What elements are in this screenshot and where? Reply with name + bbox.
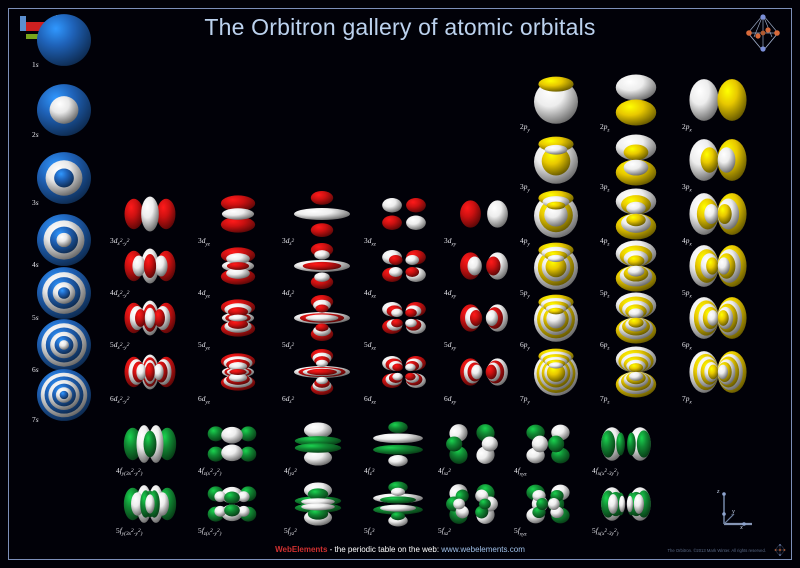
orbital-5fz(x2-y2)[interactable] — [204, 481, 260, 527]
orbital-7py[interactable] — [533, 349, 579, 395]
orbital-label-2py: 2py — [520, 122, 530, 133]
orbital-7s[interactable] — [36, 367, 92, 423]
orbital-label-5dxy: 5dxy — [444, 340, 456, 351]
orbital-3pz[interactable] — [613, 134, 659, 186]
orbital-1s[interactable] — [36, 12, 92, 68]
orbital-label-5fy(3x2-y2): 5fy(3x2-y2) — [116, 526, 142, 537]
orbital-label-7s: 7s — [32, 415, 39, 424]
orbital-4py[interactable] — [533, 191, 579, 237]
orbital-label-6dxz: 6dxz — [364, 394, 376, 405]
orbital-6dx2-y2[interactable] — [123, 352, 177, 392]
footer-url[interactable]: www.webelements.com — [441, 545, 525, 554]
orbital-label-6dz2: 6dz2 — [282, 394, 294, 405]
orbital-4fy(3x2-y2)[interactable] — [122, 421, 178, 467]
orbital-label-4fy(3x2-y2): 4fy(3x2-y2) — [116, 466, 142, 477]
orbital-label-6py: 6py — [520, 340, 530, 351]
orbital-5dxy[interactable] — [457, 298, 511, 338]
orbital-5fx(x2-3y2)[interactable] — [598, 481, 654, 527]
orbital-label-4dxy: 4dxy — [444, 288, 456, 299]
orbital-label-5dyz: 5dyz — [198, 340, 210, 351]
footer-brand[interactable]: WebElements — [275, 545, 327, 554]
axis-label-y: y — [732, 508, 735, 515]
orbital-label-5py: 5py — [520, 288, 530, 299]
orbital-label-5fx(x2-3y2): 5fx(x2-3y2) — [592, 526, 618, 537]
orbital-5fxz2[interactable] — [444, 481, 500, 527]
orbital-6pz[interactable] — [613, 292, 659, 344]
orbital-4dyz[interactable] — [211, 246, 265, 286]
orbital-5px[interactable] — [689, 243, 747, 289]
orbital-4px[interactable] — [689, 191, 747, 237]
orbital-label-3dyz: 3dyz — [198, 236, 210, 247]
orbital-6s[interactable] — [36, 317, 92, 373]
orbital-6dz2[interactable] — [293, 348, 351, 396]
orbital-4fx(x2-3y2)[interactable] — [598, 421, 654, 467]
orbitron-poster: The Orbitron gallery of atomic orbitals … — [0, 0, 800, 568]
orbital-4fxz2[interactable] — [444, 421, 500, 467]
orbital-label-5pz: 5pz — [600, 288, 610, 299]
orbital-5dz2[interactable] — [293, 294, 351, 342]
orbital-3px[interactable] — [689, 137, 747, 183]
orbital-label-5dxz: 5dxz — [364, 340, 376, 351]
orbital-3s[interactable] — [36, 150, 92, 206]
orbital-3dxy[interactable] — [457, 194, 511, 234]
orbital-label-4fyz2: 4fyz2 — [284, 466, 297, 477]
orbital-4fyz2[interactable] — [290, 421, 346, 467]
orbital-5fxyz[interactable] — [520, 481, 576, 527]
axis-label-x: x — [740, 524, 743, 531]
orbital-2pz[interactable] — [613, 74, 659, 126]
orbital-5dx2-y2[interactable] — [123, 298, 177, 338]
orbital-7px[interactable] — [689, 349, 747, 395]
orbital-label-4fz(x2-y2): 4fz(x2-y2) — [198, 466, 221, 477]
orbital-4dz2[interactable] — [293, 242, 351, 290]
orbital-6py[interactable] — [533, 295, 579, 341]
orbital-label-3dxz: 3dxz — [364, 236, 376, 247]
orbital-label-4fxz2: 4fxz2 — [438, 466, 451, 477]
orbitron-mini-icon — [773, 543, 787, 557]
orbital-6dxy[interactable] — [457, 352, 511, 392]
orbital-3dx2-y2[interactable] — [123, 194, 177, 234]
orbital-5dyz[interactable] — [211, 298, 265, 338]
orbital-3dyz[interactable] — [211, 194, 265, 234]
orbital-label-4dyz: 4dyz — [198, 288, 210, 299]
orbital-label-2s: 2s — [32, 130, 39, 139]
orbital-4dxz[interactable] — [377, 246, 431, 286]
orbital-4dx2-y2[interactable] — [123, 246, 177, 286]
orbital-4dxy[interactable] — [457, 246, 511, 286]
orbital-6dyz[interactable] — [211, 352, 265, 392]
orbital-7pz[interactable] — [613, 346, 659, 398]
orbital-label-7px: 7px — [682, 394, 692, 405]
axes-key: z y x — [712, 490, 772, 538]
orbital-label-6pz: 6pz — [600, 340, 610, 351]
page-title: The Orbitron gallery of atomic orbitals — [0, 14, 800, 41]
orbital-label-7py: 7py — [520, 394, 530, 405]
orbital-5dxz[interactable] — [377, 298, 431, 338]
orbital-4s[interactable] — [36, 212, 92, 268]
orbital-label-4py: 4py — [520, 236, 530, 247]
orbital-6dxz[interactable] — [377, 352, 431, 392]
orbital-4pz[interactable] — [613, 188, 659, 240]
footer-text: - the periodic table on the web: — [327, 545, 441, 554]
orbital-label-6dxy: 6dxy — [444, 394, 456, 405]
orbital-label-2pz: 2pz — [600, 122, 610, 133]
orbital-4fz(x2-y2)[interactable] — [204, 421, 260, 467]
orbital-label-1s: 1s — [32, 60, 39, 69]
orbital-5fy(3x2-y2)[interactable] — [122, 481, 178, 527]
orbital-6px[interactable] — [689, 295, 747, 341]
orbital-label-6dx2-y2: 6dx2-y2 — [110, 394, 129, 405]
orbital-label-5dx2-y2: 5dx2-y2 — [110, 340, 129, 351]
orbital-label-5fxz2: 5fxz2 — [438, 526, 451, 537]
orbital-5fz3[interactable] — [370, 481, 426, 527]
orbital-2px[interactable] — [689, 77, 747, 123]
orbital-label-2px: 2px — [682, 122, 692, 133]
orbital-label-3pz: 3pz — [600, 182, 610, 193]
copyright-text: The Orbitron. ©2013 Mark Winter. All rig… — [667, 548, 766, 553]
orbital-2py[interactable] — [533, 77, 579, 123]
orbital-3py[interactable] — [533, 137, 579, 183]
orbital-label-5fyz2: 5fyz2 — [284, 526, 297, 537]
orbital-2s[interactable] — [36, 82, 92, 138]
orbitron-octahedron-icon[interactable] — [742, 12, 784, 54]
orbital-4fxyz[interactable] — [520, 421, 576, 467]
orbital-3dz2[interactable] — [293, 190, 351, 238]
orbital-label-4fx(x2-3y2): 4fx(x2-3y2) — [592, 466, 618, 477]
orbital-3dxz[interactable] — [377, 194, 431, 234]
orbital-label-5fxyz: 5fxyz — [514, 526, 527, 537]
orbital-5fyz2[interactable] — [290, 481, 346, 527]
orbital-5py[interactable] — [533, 243, 579, 289]
orbital-label-4pz: 4pz — [600, 236, 610, 247]
orbital-5pz[interactable] — [613, 240, 659, 292]
orbital-label-6dyz: 6dyz — [198, 394, 210, 405]
orbital-label-5fz(x2-y2): 5fz(x2-y2) — [198, 526, 221, 537]
orbital-label-3py: 3py — [520, 182, 530, 193]
orbital-label-7pz: 7pz — [600, 394, 610, 405]
orbital-label-4fz3: 4fz3 — [364, 466, 375, 477]
orbital-label-4fxyz: 4fxyz — [514, 466, 527, 477]
axis-label-z: z — [717, 488, 720, 495]
orbital-label-3dxy: 3dxy — [444, 236, 456, 247]
orbital-label-4dxz: 4dxz — [364, 288, 376, 299]
orbital-4fz3[interactable] — [370, 421, 426, 467]
orbital-label-5fz3: 5fz3 — [364, 526, 375, 537]
orbital-label-3s: 3s — [32, 198, 39, 207]
orbital-5s[interactable] — [36, 265, 92, 321]
